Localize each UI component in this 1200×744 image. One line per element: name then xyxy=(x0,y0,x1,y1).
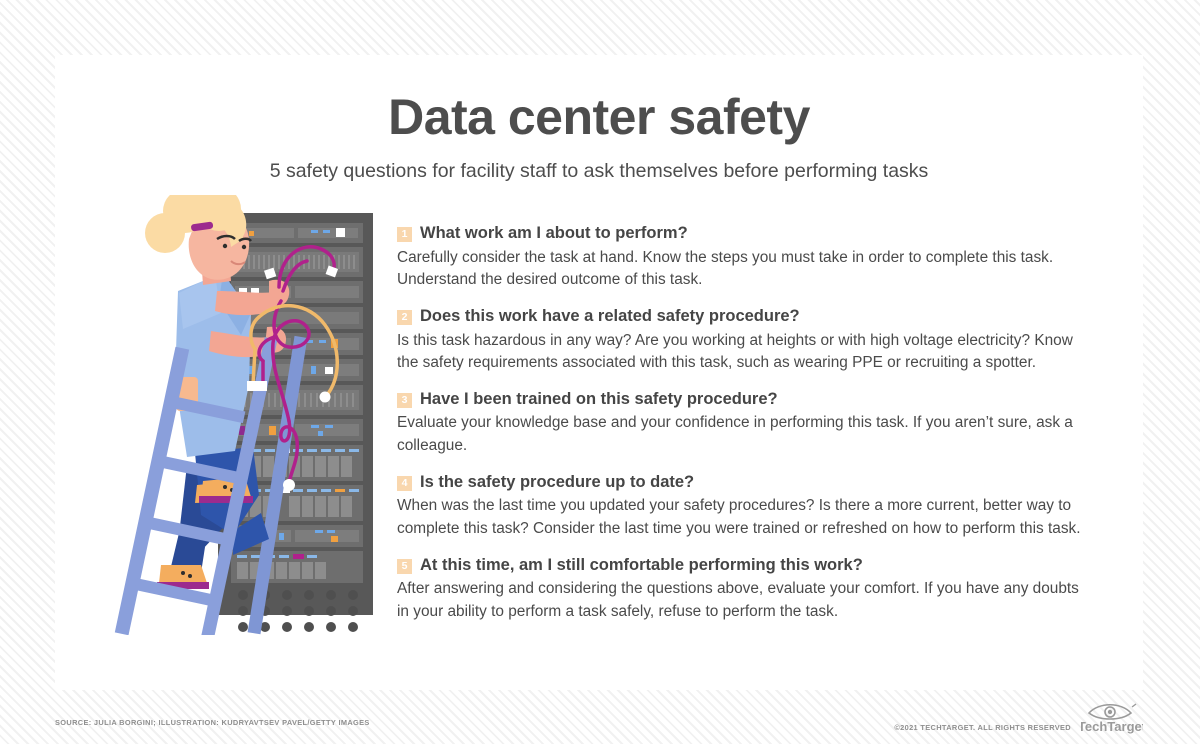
question-heading: 3 Have I been trained on this safety pro… xyxy=(397,389,1097,410)
question-item: 3 Have I been trained on this safety pro… xyxy=(397,389,1097,458)
question-item: 4 Is the safety procedure up to date? Wh… xyxy=(397,472,1097,541)
techtarget-logo: TechTarget xyxy=(1081,700,1143,739)
page-title: Data center safety xyxy=(55,91,1143,144)
question-heading: 5 At this time, am I still comfortable p… xyxy=(397,555,1097,576)
question-title: Have I been trained on this safety proce… xyxy=(420,389,778,410)
question-heading: 2 Does this work have a related safety p… xyxy=(397,306,1097,327)
question-heading: 4 Is the safety procedure up to date? xyxy=(397,472,1097,493)
question-title: Does this work have a related safety pro… xyxy=(420,306,800,327)
page-subtitle: 5 safety questions for facility staff to… xyxy=(55,160,1143,183)
header: Data center safety 5 safety questions fo… xyxy=(55,91,1143,183)
question-item: 2 Does this work have a related safety p… xyxy=(397,306,1097,375)
question-body: Carefully consider the task at hand. Kno… xyxy=(397,247,1087,292)
question-title: Is the safety procedure up to date? xyxy=(420,472,694,493)
source-credit: SOURCE: JULIA BORGINI; ILLUSTRATION: KUD… xyxy=(55,718,370,727)
footer-right: ©2021 TECHTARGET. ALL RIGHTS RESERVED Te… xyxy=(894,700,1143,739)
question-number-badge: 2 xyxy=(397,310,412,325)
infographic-card: Data center safety 5 safety questions fo… xyxy=(55,55,1143,690)
questions-list: 1 What work am I about to perform? Caref… xyxy=(397,223,1097,624)
eye-icon xyxy=(1089,704,1136,719)
page-background: Data center safety 5 safety questions fo… xyxy=(0,0,1200,744)
question-body: Evaluate your knowledge base and your co… xyxy=(397,412,1087,457)
copyright-notice: ©2021 TECHTARGET. ALL RIGHTS RESERVED xyxy=(894,723,1071,739)
question-number-badge: 4 xyxy=(397,476,412,491)
question-body: Is this task hazardous in any way? Are y… xyxy=(397,330,1087,375)
logo-wordmark: TechTarget xyxy=(1081,719,1143,734)
question-item: 5 At this time, am I still comfortable p… xyxy=(397,555,1097,624)
question-body: After answering and considering the ques… xyxy=(397,578,1087,623)
question-number-badge: 5 xyxy=(397,559,412,574)
question-heading: 1 What work am I about to perform? xyxy=(397,223,1097,244)
question-number-badge: 1 xyxy=(397,227,412,242)
question-title: At this time, am I still comfortable per… xyxy=(420,555,863,576)
data-center-illustration xyxy=(83,195,383,635)
question-body: When was the last time you updated your … xyxy=(397,495,1087,540)
question-title: What work am I about to perform? xyxy=(420,223,688,244)
question-item: 1 What work am I about to perform? Caref… xyxy=(397,223,1097,292)
question-number-badge: 3 xyxy=(397,393,412,408)
